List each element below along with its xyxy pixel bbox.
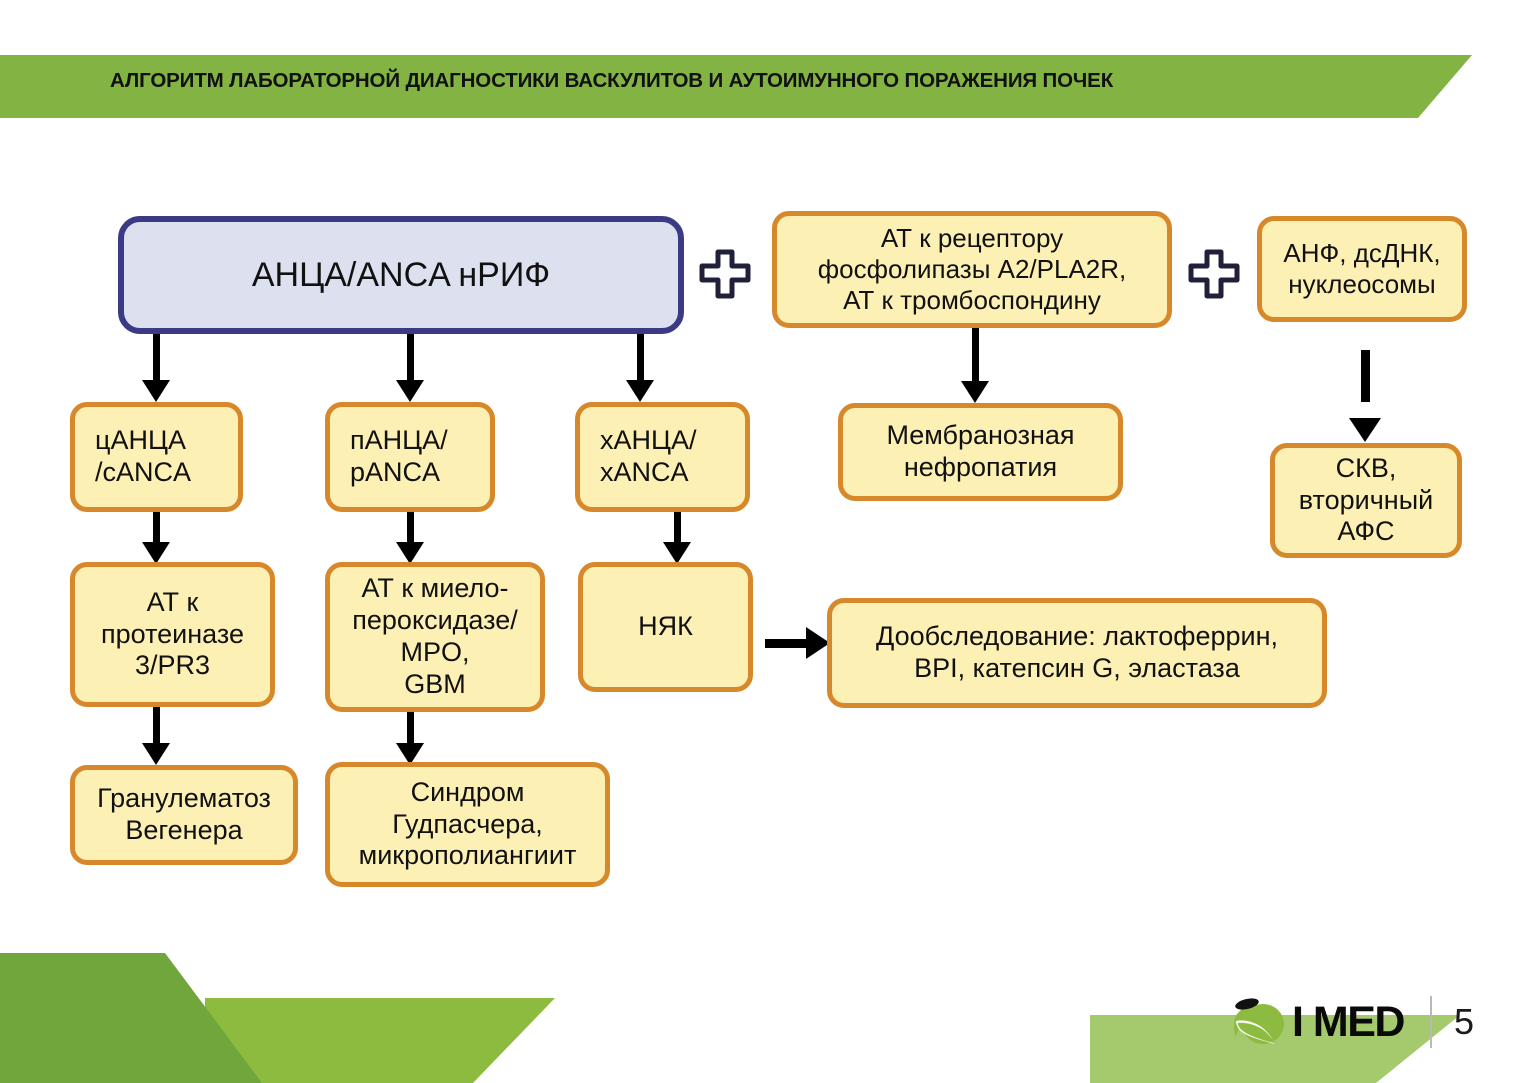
node-nyak-label: НЯК	[583, 611, 748, 643]
node-membranous-nephropathy-label: Мембранозная нефропатия	[843, 420, 1118, 484]
diagnostic-flowchart: АНЦА/ANCA нРИФ АТ к рецептору фосфолипаз…	[0, 0, 1536, 1083]
node-xanca[interactable]: хАНЦА/ хANCA	[575, 402, 750, 512]
mpo-line2: пероксидазе/	[352, 605, 517, 635]
arrow-root-to-xanca	[625, 334, 655, 402]
sle-line2: вторичный	[1299, 485, 1433, 515]
membranous-line1: Мембранозная	[886, 420, 1074, 450]
mpo-line4: GBM	[404, 669, 466, 699]
arrow-panca-to-mpo	[395, 512, 425, 564]
pla2r-line3: АТ к тромбоспондину	[843, 285, 1101, 315]
wegener-line1: Гранулематоз	[97, 783, 271, 813]
panca-line2: pANCA	[350, 457, 440, 487]
arrow-ana-to-sle	[1348, 322, 1382, 442]
arrow-pr3-to-wegener	[141, 707, 171, 765]
page-number: 5	[1454, 1004, 1474, 1040]
pr3-line1: АТ к	[147, 587, 199, 617]
mpo-line1: АТ к миело-	[361, 573, 508, 603]
node-nyak[interactable]: НЯК	[578, 562, 753, 692]
footer-shape-mid	[205, 998, 555, 1083]
canca-line1: цАНЦА	[95, 425, 186, 455]
plus-icon-1	[697, 247, 753, 303]
wegener-line2: Вегенера	[125, 815, 242, 845]
node-goodpasture-syndrome[interactable]: Синдром Гудпасчера, микрополиангиит	[325, 762, 610, 887]
node-pr3-antibodies-label: АТ к протеиназе 3/PR3	[75, 587, 270, 683]
arrow-root-to-canca	[141, 334, 171, 402]
brand-name: I MED	[1292, 1001, 1404, 1044]
node-sle-aps-label: СКВ, вторичный АФС	[1275, 453, 1457, 549]
pla2r-line1: АТ к рецептору	[881, 223, 1063, 253]
node-panca[interactable]: пАНЦА/ pANCA	[325, 402, 495, 512]
brand-footer: I MED 5	[1230, 993, 1474, 1051]
arrow-canca-to-pr3	[141, 512, 171, 564]
node-anca-if-label: АНЦА/ANCA нРИФ	[124, 255, 678, 295]
xanca-line2: хANCA	[600, 457, 689, 487]
ana-line1: АНФ, дсДНК,	[1283, 238, 1440, 268]
arrow-xanca-to-nyak	[662, 512, 692, 564]
node-pr3-antibodies[interactable]: АТ к протеиназе 3/PR3	[70, 562, 275, 707]
node-panca-label: пАНЦА/ pANCA	[330, 425, 490, 489]
node-additional-testing-label: Дообследование: лактоферрин, BPI, катепс…	[832, 621, 1322, 685]
pr3-line3: 3/PR3	[135, 650, 210, 680]
goodpasture-line3: микрополиангиит	[359, 840, 577, 870]
pla2r-line2: фосфолипазы A2/PLA2R,	[818, 254, 1127, 284]
node-sle-aps[interactable]: СКВ, вторичный АФС	[1270, 443, 1462, 558]
node-xanca-label: хАНЦА/ хANCA	[580, 425, 745, 489]
goodpasture-line1: Синдром	[411, 777, 525, 807]
followup-line1: Дообследование: лактоферрин,	[876, 621, 1278, 651]
arrow-root-to-panca	[395, 334, 425, 402]
followup-line2: BPI, катепсин G, эластаза	[914, 653, 1240, 683]
node-mpo-gbm-antibodies[interactable]: АТ к миело- пероксидазе/ MPO, GBM	[325, 562, 545, 712]
mpo-line3: MPO,	[400, 637, 469, 667]
node-pla2r-antibodies-label: АТ к рецептору фосфолипазы A2/PLA2R, АТ …	[777, 223, 1167, 315]
canca-line2: /cANCA	[95, 457, 191, 487]
node-anca-if[interactable]: АНЦА/ANCA нРИФ	[118, 216, 684, 334]
pr3-line2: протеиназе	[101, 619, 244, 649]
ana-line2: нуклеосомы	[1288, 269, 1435, 299]
arrow-nyak-to-followup	[765, 627, 830, 659]
arrow-mpo-to-goodpasture	[395, 712, 425, 765]
membranous-line2: нефропатия	[904, 452, 1057, 482]
node-pla2r-antibodies[interactable]: АТ к рецептору фосфолипазы A2/PLA2R, АТ …	[772, 211, 1172, 328]
goodpasture-line2: Гудпасчера,	[392, 809, 543, 839]
brand-divider	[1430, 996, 1432, 1048]
node-additional-testing[interactable]: Дообследование: лактоферрин, BPI, катепс…	[827, 598, 1327, 708]
panca-line1: пАНЦА/	[350, 425, 448, 455]
node-canca-label: цАНЦА /cANCA	[75, 425, 238, 489]
sle-line1: СКВ,	[1336, 453, 1397, 483]
arrow-pla2r-to-membranous	[960, 328, 990, 403]
node-canca[interactable]: цАНЦА /cANCA	[70, 402, 243, 512]
node-mpo-gbm-antibodies-label: АТ к миело- пероксидазе/ MPO, GBM	[330, 573, 540, 700]
imed-logo-icon	[1230, 997, 1286, 1047]
node-wegener-granulomatosis[interactable]: Гранулематоз Вегенера	[70, 765, 298, 865]
xanca-line1: хАНЦА/	[600, 425, 697, 455]
node-wegener-granulomatosis-label: Гранулематоз Вегенера	[75, 783, 293, 847]
node-ana-dsdna-label: АНФ, дсДНК, нуклеосомы	[1262, 238, 1462, 299]
plus-icon-2	[1186, 247, 1242, 303]
sle-line3: АФС	[1337, 516, 1394, 546]
node-ana-dsdna[interactable]: АНФ, дсДНК, нуклеосомы	[1257, 216, 1467, 322]
node-membranous-nephropathy[interactable]: Мембранозная нефропатия	[838, 403, 1123, 501]
node-goodpasture-syndrome-label: Синдром Гудпасчера, микрополиангиит	[330, 777, 605, 873]
